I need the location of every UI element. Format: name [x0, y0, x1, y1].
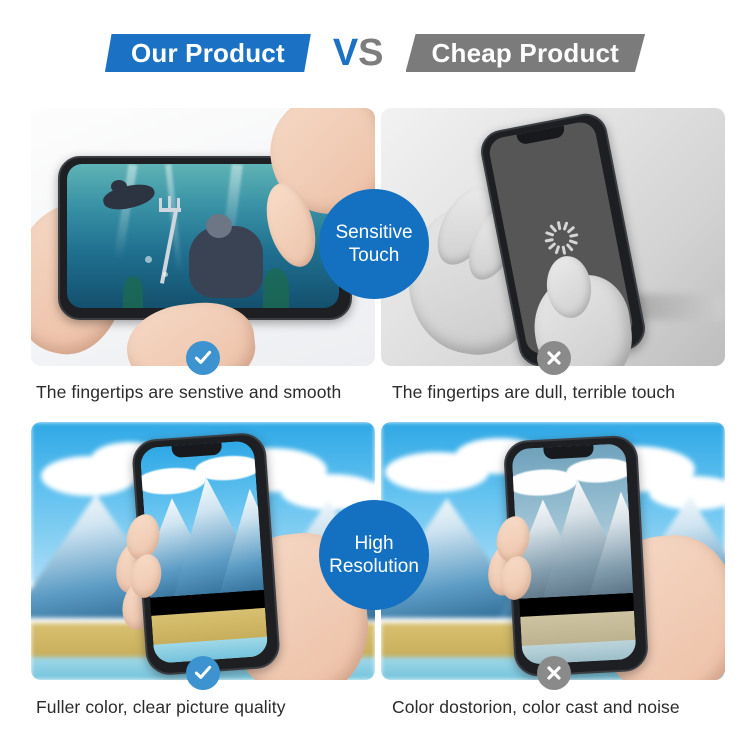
seaweed: [263, 268, 289, 308]
close-icon: [544, 348, 564, 368]
check-icon: [193, 663, 213, 683]
phone-screen: [511, 443, 636, 665]
comparison-grid: The fingertips are senstive and smooth: [0, 0, 750, 750]
feature-badge-high-resolution: High Resolution: [319, 500, 429, 610]
photo-high-resolution-bad: [381, 422, 725, 680]
caption-bottom-left: Fuller color, clear picture quality: [36, 697, 380, 718]
caption-top-right: The fingertips are dull, terrible touch: [392, 382, 736, 403]
trident-prong: [159, 198, 162, 211]
close-icon: [544, 663, 564, 683]
caption-bottom-right: Color dostorion, color cast and noise: [392, 697, 736, 718]
seaweed: [123, 276, 143, 308]
verdict-check-badge: [186, 656, 220, 690]
feature-badge-line1: Sensitive: [335, 221, 412, 244]
feature-badge-line2: Resolution: [329, 555, 419, 578]
comparison-infographic: Our Product VS Cheap Product: [0, 0, 750, 750]
feature-badge-line2: Touch: [349, 244, 400, 267]
soldier-head: [206, 214, 232, 238]
scene-loading-grayscale: [381, 108, 725, 366]
bubble: [163, 272, 168, 277]
trident-prong: [168, 196, 171, 211]
scene-mountain-dull: [381, 422, 725, 680]
bubble: [145, 256, 152, 263]
soldier-body: [189, 226, 263, 298]
verdict-cross-badge: [537, 656, 571, 690]
trident-prong: [177, 198, 180, 211]
feature-badge-sensitive-touch: Sensitive Touch: [319, 189, 429, 299]
diver-head: [111, 180, 127, 193]
verdict-check-badge: [186, 341, 220, 375]
phone-screen: [140, 440, 269, 663]
caption-top-left: The fingertips are senstive and smooth: [36, 382, 380, 403]
loading-spinner-icon: [541, 218, 581, 258]
verdict-cross-badge: [537, 341, 571, 375]
wallpaper-landscape: [140, 440, 269, 663]
wallpaper-landscape-dull: [511, 443, 636, 665]
check-icon: [193, 348, 213, 368]
feature-badge-line1: High: [354, 532, 393, 555]
photo-sensitive-touch-bad: [381, 108, 725, 366]
